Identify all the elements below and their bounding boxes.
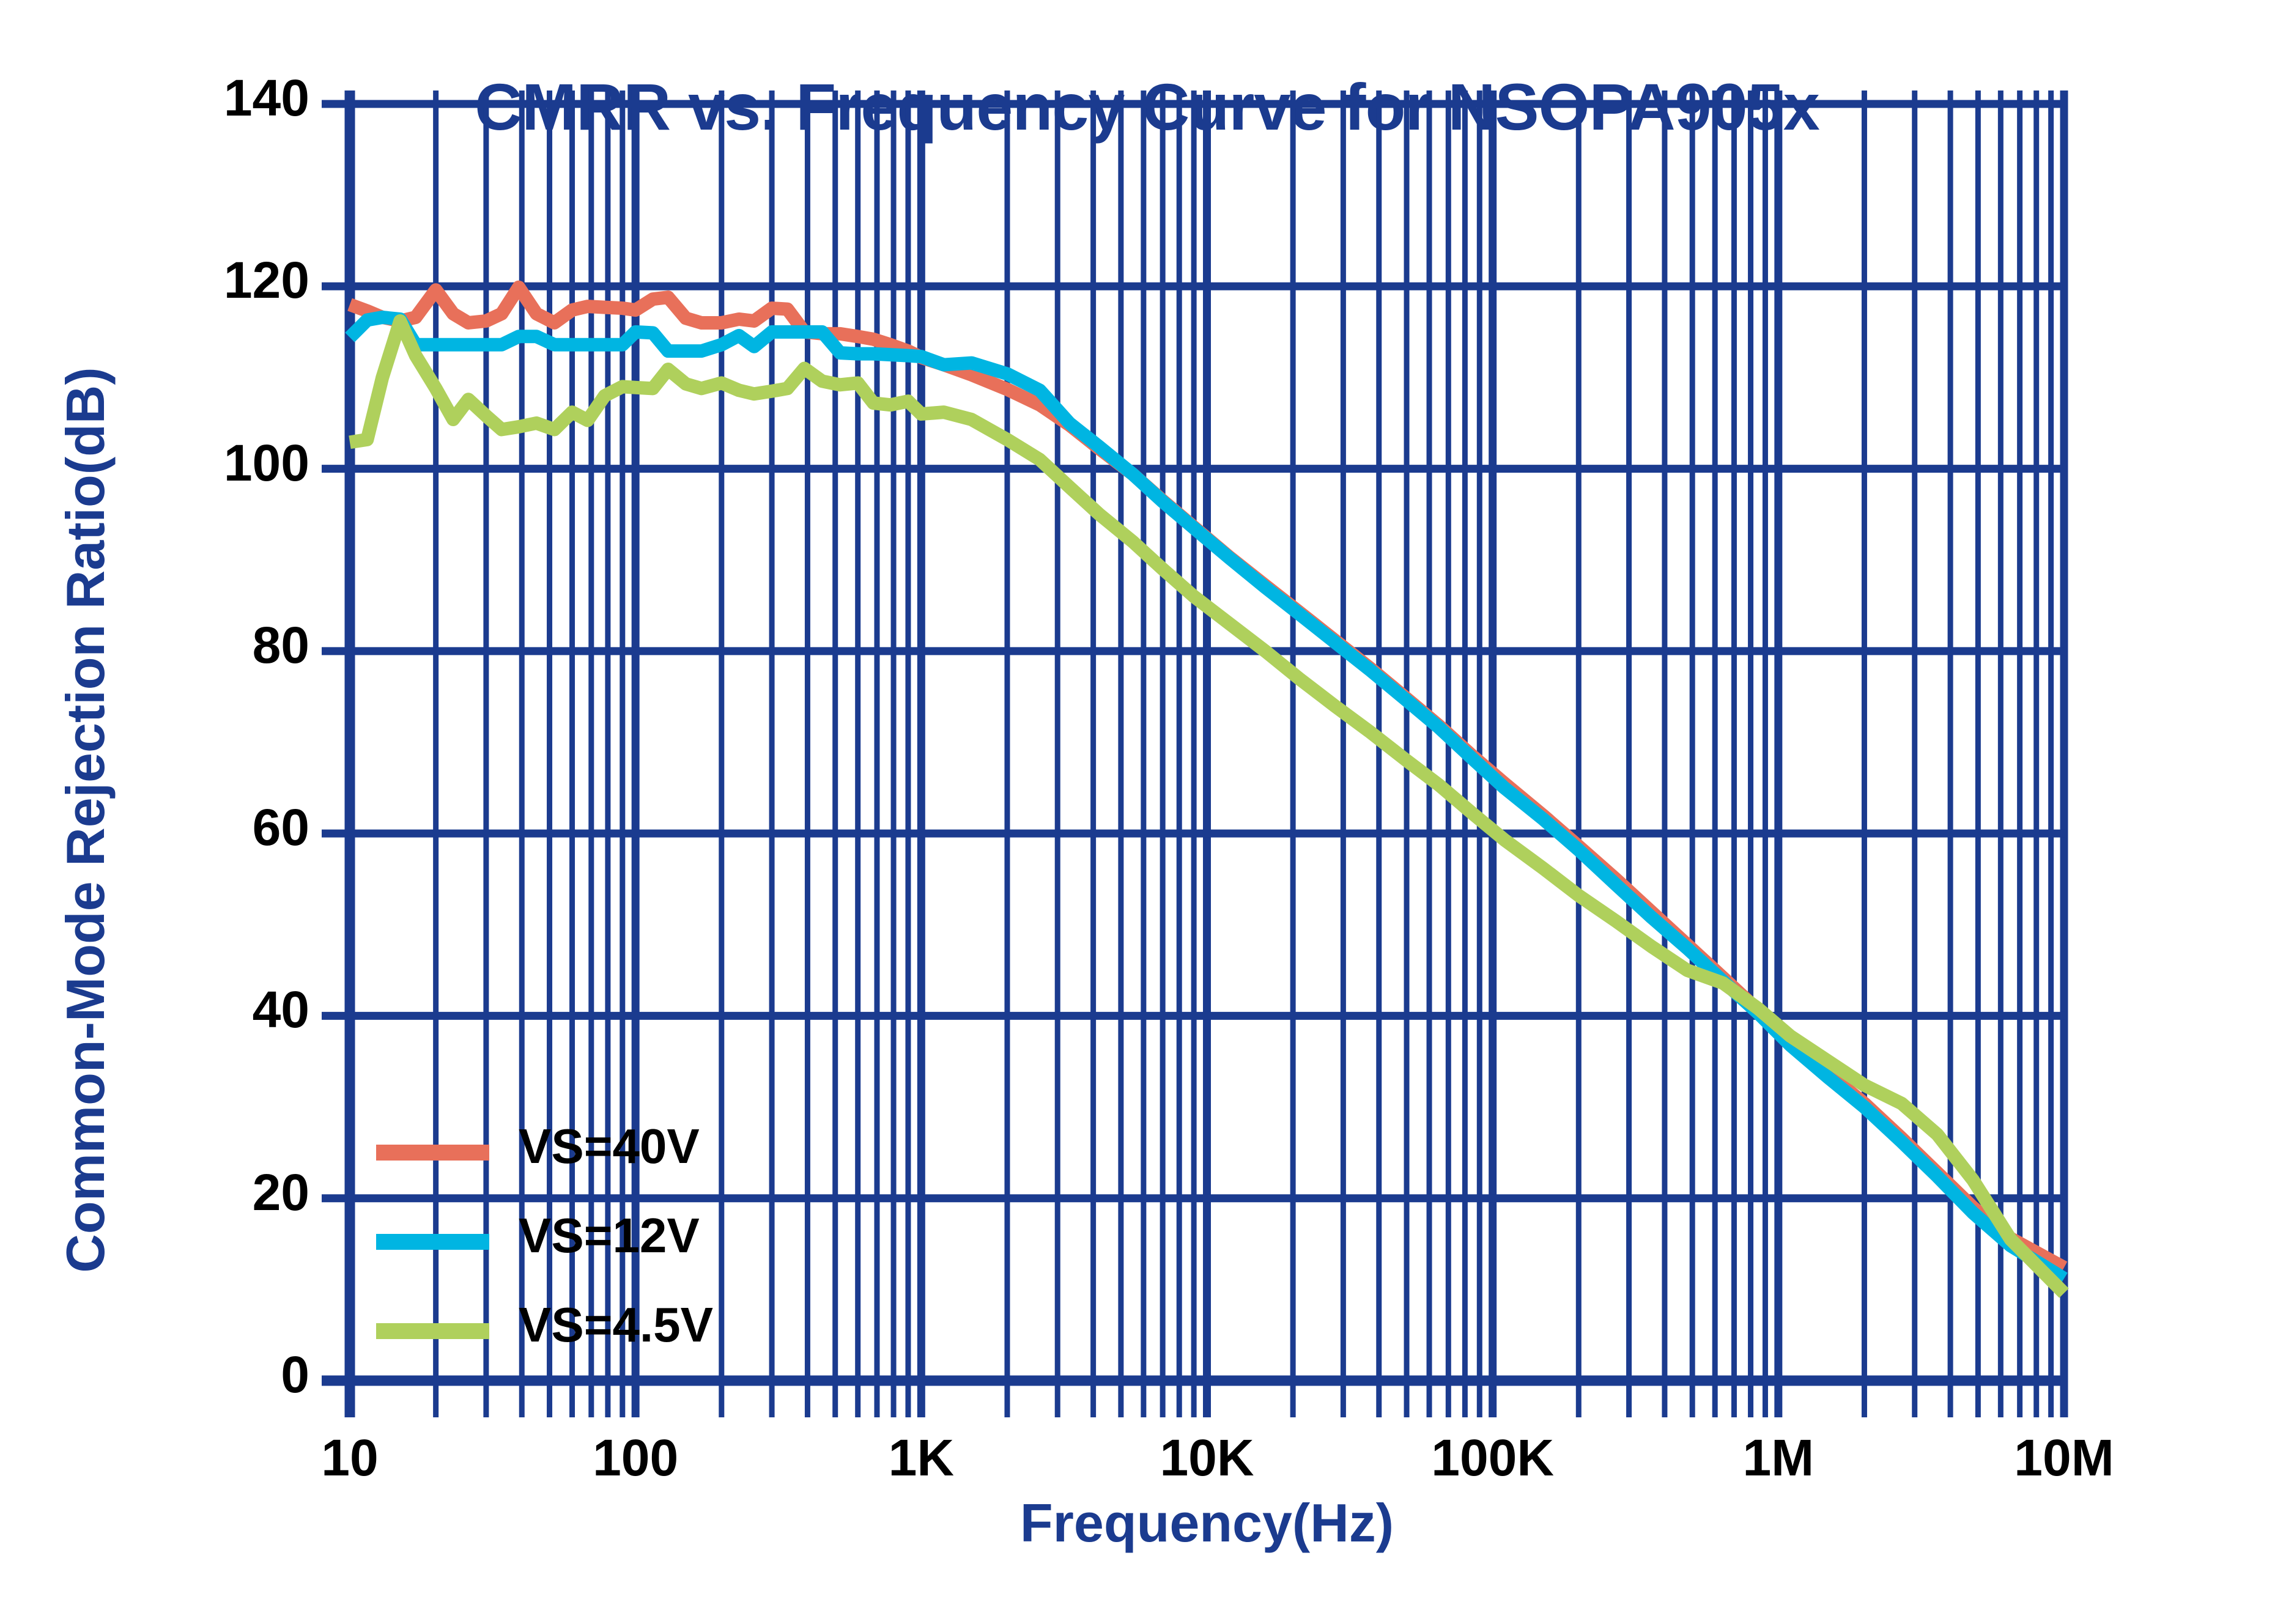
legend-label-vs-40v: VS=40V xyxy=(519,1118,700,1175)
x-tick-label: 10M xyxy=(1942,1428,2186,1488)
y-tick-label: 60 xyxy=(150,798,309,857)
x-tick-label: 1K xyxy=(799,1428,1043,1488)
x-tick-label: 10K xyxy=(1085,1428,1330,1488)
y-tick-label: 40 xyxy=(150,980,309,1039)
y-tick-label: 0 xyxy=(150,1345,309,1404)
y-tick-label: 120 xyxy=(150,251,309,310)
x-tick-label: 100K xyxy=(1371,1428,1615,1488)
legend-swatches xyxy=(376,1153,489,1331)
x-tick-label: 100 xyxy=(513,1428,758,1488)
plot-area xyxy=(0,0,2294,1624)
chart-figure: CMRR vs. Frequency Curve for NSOPA905x C… xyxy=(0,0,2294,1624)
x-tick-label: 1M xyxy=(1656,1428,1901,1488)
legend-label-vs-12v: VS=12V xyxy=(519,1208,700,1264)
y-tick-label: 100 xyxy=(150,434,309,493)
legend-label-vs-4-5v: VS=4.5V xyxy=(519,1297,713,1353)
x-tick-label: 10 xyxy=(228,1428,472,1488)
y-tick-label: 140 xyxy=(150,68,309,128)
y-tick-label: 20 xyxy=(150,1163,309,1222)
y-tick-label: 80 xyxy=(150,616,309,675)
